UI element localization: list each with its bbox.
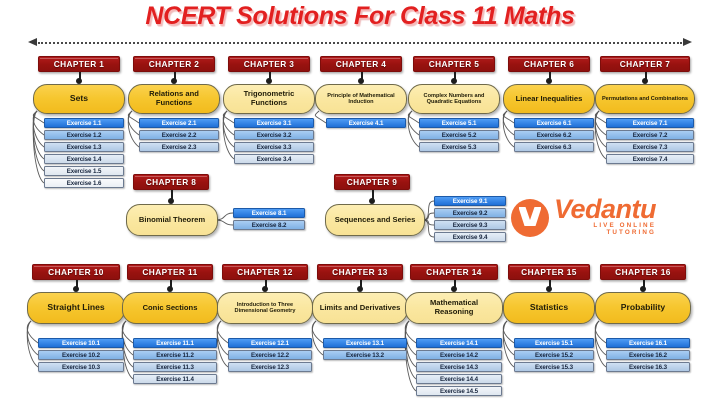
exercise-chip[interactable]: Exercise 14.4: [416, 374, 502, 384]
chapter-header-16[interactable]: CHAPTER 16: [600, 264, 686, 280]
exercise-chip[interactable]: Exercise 11.1: [133, 338, 217, 348]
exercise-chip[interactable]: Exercise 16.3: [606, 362, 690, 372]
exercise-chip[interactable]: Exercise 12.1: [228, 338, 312, 348]
chapter-header-1[interactable]: CHAPTER 1: [38, 56, 120, 72]
exercise-chip[interactable]: Exercise 10.3: [38, 362, 124, 372]
chapter-header-7[interactable]: CHAPTER 7: [600, 56, 690, 72]
topic-box[interactable]: Complex Numbers and Quadratic Equations: [408, 84, 500, 114]
chapter-header-9[interactable]: CHAPTER 9: [334, 174, 410, 190]
infographic-canvas: NCERT Solutions For Class 11 Maths CHAPT…: [0, 0, 720, 404]
exercise-chip[interactable]: Exercise 13.2: [323, 350, 407, 360]
topic-box[interactable]: Straight Lines: [27, 292, 125, 324]
chapter-header-3[interactable]: CHAPTER 3: [228, 56, 310, 72]
exercise-chip[interactable]: Exercise 2.3: [139, 142, 219, 152]
topic-box[interactable]: Binomial Theorem: [126, 204, 218, 236]
exercise-chip[interactable]: Exercise 10.1: [38, 338, 124, 348]
vedantu-mark-icon: [508, 196, 552, 240]
exercise-chip[interactable]: Exercise 14.5: [416, 386, 502, 396]
topic-box[interactable]: Principle of Mathematical Induction: [315, 84, 407, 114]
exercise-chip[interactable]: Exercise 11.2: [133, 350, 217, 360]
exercise-chip[interactable]: Exercise 11.4: [133, 374, 217, 384]
chapter-header-11[interactable]: CHAPTER 11: [127, 264, 213, 280]
exercise-chip[interactable]: Exercise 14.3: [416, 362, 502, 372]
topic-box[interactable]: Conic Sections: [122, 292, 218, 324]
vedantu-logo: Vedantu LIVE ONLINE TUTORING: [508, 196, 552, 245]
exercise-chip[interactable]: Exercise 12.3: [228, 362, 312, 372]
exercise-chip[interactable]: Exercise 5.2: [419, 130, 499, 140]
topic-box[interactable]: Trigonometric Functions: [223, 84, 315, 114]
topic-box[interactable]: Introduction to Three Dimensional Geomet…: [217, 292, 313, 324]
chapter-header-13[interactable]: CHAPTER 13: [317, 264, 403, 280]
chapter-header-14[interactable]: CHAPTER 14: [410, 264, 498, 280]
exercise-chip[interactable]: Exercise 9.2: [434, 208, 506, 218]
exercise-chip[interactable]: Exercise 7.4: [606, 154, 694, 164]
exercise-chip[interactable]: Exercise 10.2: [38, 350, 124, 360]
exercise-chip[interactable]: Exercise 3.3: [234, 142, 314, 152]
exercise-chip[interactable]: Exercise 5.1: [419, 118, 499, 128]
topic-box[interactable]: Sequences and Series: [325, 204, 425, 236]
arrow-right-icon: [683, 38, 692, 46]
exercise-chip[interactable]: Exercise 7.2: [606, 130, 694, 140]
exercise-chip[interactable]: Exercise 14.2: [416, 350, 502, 360]
vedantu-wordmark: Vedantu: [554, 194, 656, 225]
arrow-left-icon: [28, 38, 37, 46]
exercise-chip[interactable]: Exercise 1.2: [44, 130, 124, 140]
exercise-chip[interactable]: Exercise 6.2: [514, 130, 594, 140]
exercise-chip[interactable]: Exercise 12.2: [228, 350, 312, 360]
chapter-header-2[interactable]: CHAPTER 2: [133, 56, 215, 72]
exercise-chip[interactable]: Exercise 7.1: [606, 118, 694, 128]
topic-box[interactable]: Limits and Derivatives: [312, 292, 408, 324]
exercise-chip[interactable]: Exercise 3.1: [234, 118, 314, 128]
exercise-chip[interactable]: Exercise 1.4: [44, 154, 124, 164]
exercise-chip[interactable]: Exercise 8.1: [233, 208, 305, 218]
chapter-header-12[interactable]: CHAPTER 12: [222, 264, 308, 280]
topic-box[interactable]: Sets: [33, 84, 125, 114]
exercise-chip[interactable]: Exercise 15.2: [514, 350, 594, 360]
exercise-chip[interactable]: Exercise 11.3: [133, 362, 217, 372]
topic-box[interactable]: Relations and Functions: [128, 84, 220, 114]
exercise-chip[interactable]: Exercise 2.1: [139, 118, 219, 128]
exercise-chip[interactable]: Exercise 2.2: [139, 130, 219, 140]
exercise-chip[interactable]: Exercise 1.5: [44, 166, 124, 176]
chapter-header-5[interactable]: CHAPTER 5: [413, 56, 495, 72]
chapter-header-10[interactable]: CHAPTER 10: [32, 264, 120, 280]
topic-box[interactable]: Statistics: [503, 292, 595, 324]
topic-box[interactable]: Linear Inequalities: [503, 84, 595, 114]
exercise-chip[interactable]: Exercise 9.3: [434, 220, 506, 230]
exercise-chip[interactable]: Exercise 13.1: [323, 338, 407, 348]
exercise-chip[interactable]: Exercise 16.2: [606, 350, 690, 360]
exercise-chip[interactable]: Exercise 7.3: [606, 142, 694, 152]
dotted-line: [38, 42, 682, 44]
exercise-chip[interactable]: Exercise 9.1: [434, 196, 506, 206]
exercise-chip[interactable]: Exercise 3.4: [234, 154, 314, 164]
exercise-chip[interactable]: Exercise 6.3: [514, 142, 594, 152]
topic-box[interactable]: Probability: [595, 292, 691, 324]
topic-box[interactable]: Permutations and Combinations: [595, 84, 695, 114]
decorative-divider: [28, 38, 692, 47]
chapter-header-8[interactable]: CHAPTER 8: [133, 174, 209, 190]
exercise-chip[interactable]: Exercise 14.1: [416, 338, 502, 348]
chapter-header-15[interactable]: CHAPTER 15: [508, 264, 590, 280]
exercise-chip[interactable]: Exercise 6.1: [514, 118, 594, 128]
exercise-chip[interactable]: Exercise 3.2: [234, 130, 314, 140]
exercise-chip[interactable]: Exercise 16.1: [606, 338, 690, 348]
exercise-chip[interactable]: Exercise 5.3: [419, 142, 499, 152]
exercise-chip[interactable]: Exercise 4.1: [326, 118, 406, 128]
topic-box[interactable]: Mathematical Reasoning: [405, 292, 503, 324]
exercise-chip[interactable]: Exercise 8.2: [233, 220, 305, 230]
exercise-chip[interactable]: Exercise 1.1: [44, 118, 124, 128]
chapter-header-4[interactable]: CHAPTER 4: [320, 56, 402, 72]
exercise-chip[interactable]: Exercise 1.6: [44, 178, 124, 188]
chapter-header-6[interactable]: CHAPTER 6: [508, 56, 590, 72]
page-title: NCERT Solutions For Class 11 Maths: [0, 2, 720, 31]
exercise-chip[interactable]: Exercise 1.3: [44, 142, 124, 152]
exercise-chip[interactable]: Exercise 15.1: [514, 338, 594, 348]
exercise-chip[interactable]: Exercise 9.4: [434, 232, 506, 242]
exercise-chip[interactable]: Exercise 15.3: [514, 362, 594, 372]
